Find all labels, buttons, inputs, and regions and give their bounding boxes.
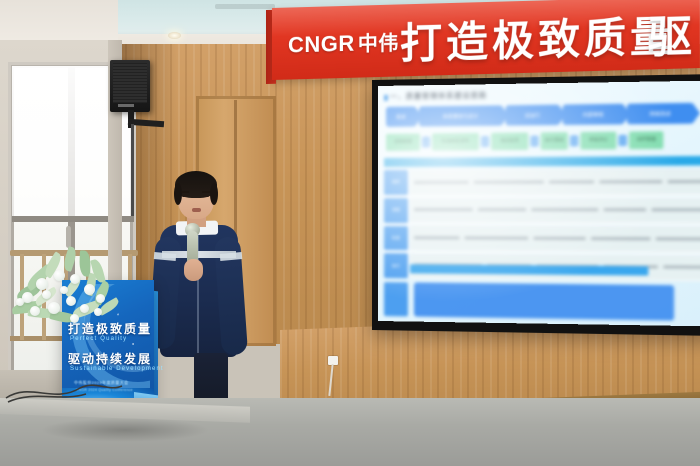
banner-headline-continued: 驱: [648, 0, 692, 65]
process-step: 内部审核: [563, 104, 624, 125]
podium-shadow: [40, 418, 210, 442]
presentation-slide: 一、质量管理体系建设思路 现状体系策划与设计试运行内部审核持续改进 流程梳理标准…: [378, 81, 700, 327]
table-cell-text: [599, 180, 663, 183]
arrow-right-icon: [618, 134, 627, 145]
table-cell-text: [604, 208, 647, 211]
slide-title: 一、质量管理体系建设思路: [390, 90, 487, 102]
flower-bloom: [54, 270, 65, 281]
table-cell-text: [656, 237, 700, 240]
loudspeaker-badge: [118, 104, 134, 107]
table-cell-text: [464, 236, 527, 239]
conference-scene: 一、质量管理体系建设思路 现状体系策划与设计试运行内部审核持续改进 流程梳理标准…: [0, 0, 700, 466]
loudspeaker-pole: [131, 124, 134, 216]
table-cell-text: [414, 180, 469, 183]
flower-bloom: [70, 314, 79, 323]
table-row-header: 标准: [384, 226, 408, 251]
arrow-right-icon: [570, 135, 578, 146]
table-cell-text: [668, 180, 700, 183]
presenter-eyebrow: [202, 191, 210, 193]
table-row-header: 流程: [384, 198, 408, 223]
table-cell-text: [652, 208, 700, 211]
arrow-right-icon: [481, 135, 489, 146]
table-cell-text: [414, 236, 459, 239]
flower-bloom: [66, 296, 76, 306]
flower-bloom: [36, 278, 48, 290]
table-cell-text: [532, 208, 599, 211]
projection-screen[interactable]: 一、质量管理体系建设思路 现状体系策划与设计试运行内部审核持续改进 流程梳理标准…: [378, 81, 700, 327]
process-step: 持续改进: [627, 103, 694, 125]
loudspeaker-grille: [113, 63, 147, 103]
arrow-right-icon: [422, 136, 430, 147]
flower-bloom: [94, 308, 102, 316]
ceiling-soffit-corner: [0, 0, 118, 40]
process-step: 现状: [386, 106, 416, 126]
flower-bloom: [30, 306, 40, 316]
window-handle[interactable]: [66, 226, 71, 248]
process-flow-row: 现状体系策划与设计试运行内部审核持续改进: [386, 102, 700, 128]
brand-latin: CNGR: [288, 31, 355, 58]
presenter-eyebrow: [181, 191, 189, 193]
presenter: [150, 175, 246, 435]
podium-slogan-line2-en: Sustainable Development: [70, 366, 164, 372]
slide-footer-box: [414, 282, 674, 320]
banner-headline: 打造极致质量: [400, 3, 676, 72]
flower-bloom: [48, 302, 60, 314]
sub-process-row: 流程梳理标准制定发布培训宣贯执行落地考核评价闭环管理: [386, 129, 700, 152]
brand-chinese: 中伟: [358, 32, 399, 55]
table-cell-text: [478, 208, 527, 211]
flower-bloom: [42, 290, 51, 299]
table-row: [410, 225, 700, 253]
table-row-header: 执行: [384, 253, 408, 278]
table-row: [410, 197, 700, 224]
sub-process-step: 流程梳理: [386, 133, 420, 150]
sub-process-step: 执行落地: [541, 132, 568, 150]
table-cell-text: [533, 236, 586, 239]
slide-title-marker: [384, 95, 388, 101]
event-banner: CNGR中伟 打造极致质量 驱: [272, 0, 700, 80]
flower-bloom: [16, 298, 24, 306]
table-cell-text: [549, 180, 594, 183]
floral-arrangement: [10, 252, 118, 332]
process-step: 试运行: [506, 105, 560, 126]
table-row-header: 组织: [384, 170, 408, 195]
footer-side-cell: [384, 282, 408, 316]
podium-slogan-line1-en: Perfect Quality: [70, 336, 127, 342]
ceiling-vent-icon: [215, 4, 275, 9]
table-cell-text: [663, 266, 700, 269]
cngr-logo: CNGR中伟: [288, 26, 399, 58]
floor-cables: [4, 378, 124, 404]
section-band: [384, 156, 700, 167]
table-row-header-column: 组织流程标准执行: [384, 170, 408, 278]
flower-bloom: [70, 274, 80, 284]
process-step: 体系策划与设计: [419, 105, 502, 126]
flower-bloom: [60, 286, 68, 294]
presenter-hair-side: [174, 183, 182, 205]
sub-process-step: 考核评价: [580, 131, 616, 149]
table-cell-text: [591, 237, 651, 240]
flower-bloom: [80, 304, 89, 313]
presenter-hair-side: [210, 183, 218, 205]
downlight-icon: [168, 32, 181, 39]
podium-slogan-line2: 驱动持续发展: [68, 350, 152, 367]
sub-process-step: 培训宣贯: [491, 132, 528, 150]
table-row: [410, 168, 700, 195]
arrow-right-icon: [530, 135, 538, 146]
flower-bloom: [84, 284, 95, 295]
flower-bloom: [96, 294, 105, 303]
sub-process-step: 标准制定发布: [432, 133, 479, 151]
presenter-mouth: [192, 208, 201, 212]
table-cell-text: [474, 180, 543, 183]
presenter-hand: [184, 259, 203, 281]
table-cell-text: [414, 208, 473, 211]
sub-process-step: 闭环管理: [629, 131, 663, 149]
